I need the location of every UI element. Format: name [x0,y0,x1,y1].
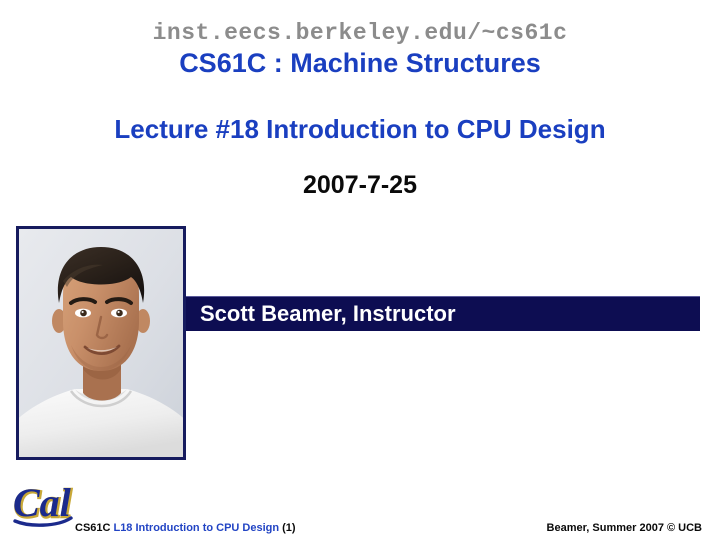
course-website-url: inst.eecs.berkeley.edu/~cs61c [0,22,720,45]
lecture-title: Lecture #18 Introduction to CPU Design [0,115,720,144]
course-title: CS61C : Machine Structures [0,49,720,77]
svg-text:Cal: Cal [13,481,72,525]
instructor-name-label: Scott Beamer, Instructor [186,303,456,325]
instructor-portrait-graphic [19,229,183,457]
footer-left: CS61CL18 Introduction to CPU Design(1) [75,523,296,534]
footer-credit: Beamer, Summer 2007 © UCB [547,523,702,534]
footer-lecture-label: L18 Introduction to CPU Design [110,522,279,534]
instructor-banner: Scott Beamer, Instructor [186,296,700,331]
lecture-date: 2007-7-25 [0,172,720,200]
slide-root: inst.eecs.berkeley.edu/~cs61c CS61C : Ma… [0,0,720,540]
slide-header: inst.eecs.berkeley.edu/~cs61c CS61C : Ma… [0,22,720,77]
footer-course-label: CS61C [75,522,110,534]
footer-page-number: (1) [279,522,295,534]
instructor-photo [16,226,186,460]
